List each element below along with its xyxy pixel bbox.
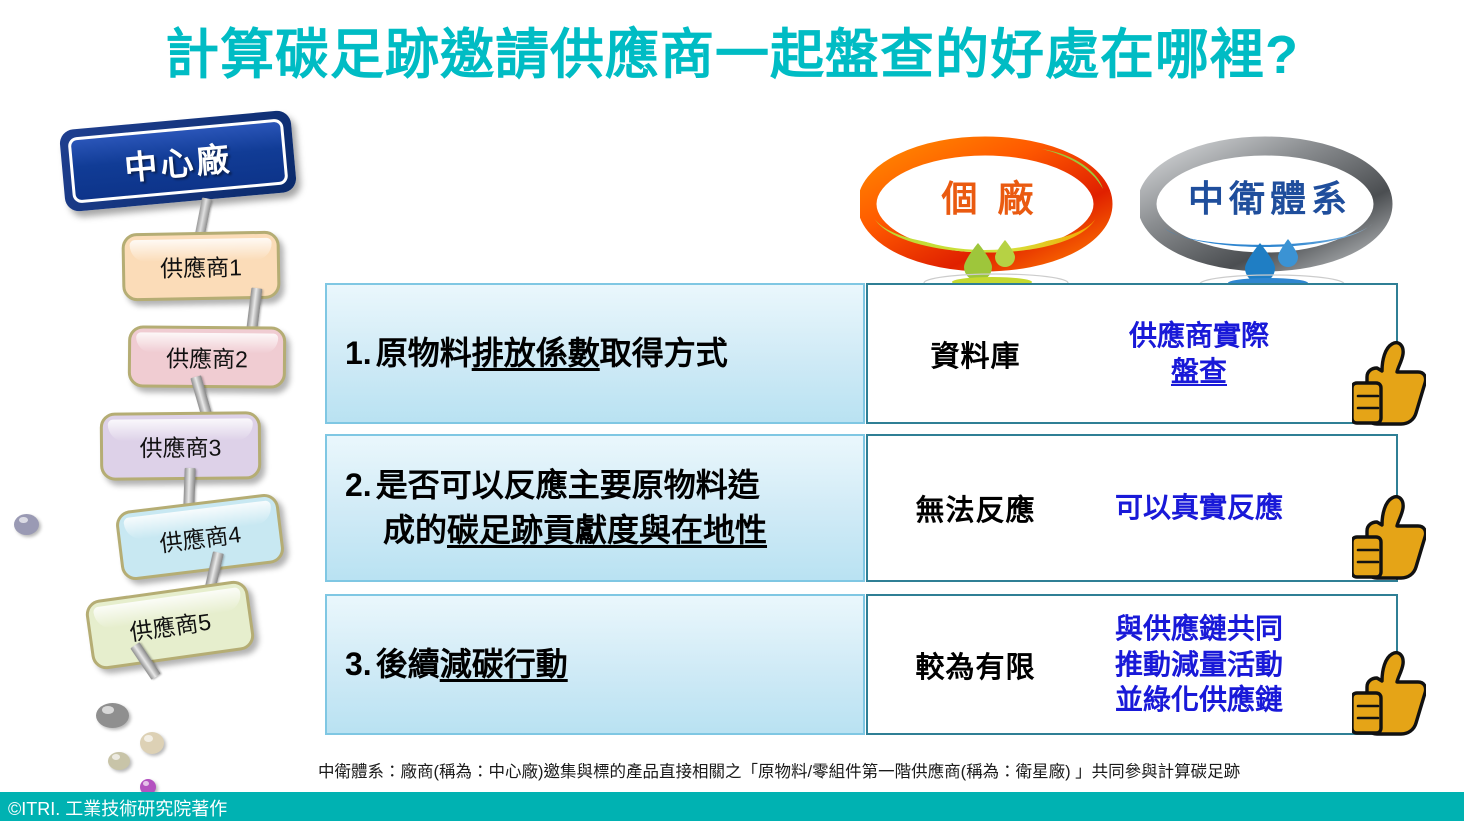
- panel-row-2: 無法反應 可以真實反應: [866, 434, 1398, 582]
- col-system-label-1: 供應商實際 盤查: [1129, 318, 1269, 390]
- oval-individual-plant: 個 廠: [860, 132, 1120, 297]
- col-system-label-2: 可以真實反應: [1115, 490, 1283, 526]
- col-individual-1: 資料庫: [868, 285, 1083, 422]
- item-box-3: 3.後續減碳行動: [325, 594, 865, 735]
- panel-row-3: 較為有限 與供應鏈共同 推動減量活動 並綠化供應鏈: [866, 594, 1398, 735]
- footnote: 中衛體系：廠商(稱為：中心廠)邀集與標的產品直接相關之「原物料/零組件第一階供應…: [318, 758, 1458, 782]
- supplier-label-3: 供應商3: [139, 429, 221, 464]
- item-plain-2: 是否可以反應主要原物料造: [376, 467, 760, 503]
- decorative-dot-2: [96, 703, 129, 728]
- hq-sign-label: 中心廠: [122, 132, 234, 190]
- col-system-3: 與供應鏈共同 推動減量活動 並綠化供應鏈: [1083, 596, 1315, 733]
- page-title: 計算碳足跡邀請供應商一起盤查的好處在哪裡?: [0, 10, 1464, 89]
- col-individual-2: 無法反應: [868, 436, 1083, 580]
- col-system-line-3-2: 推動減量活動: [1115, 649, 1283, 680]
- item-box-1: 1.原物料排放係數取得方式: [325, 283, 865, 424]
- col-system-line-3-1: 與供應鏈共同: [1115, 613, 1283, 644]
- thumbs-up-icon-1: [1352, 338, 1426, 430]
- item-index-1: 1.: [345, 335, 372, 371]
- col-system-2: 可以真實反應: [1083, 436, 1315, 580]
- supplier-label-5: 供應商5: [127, 602, 213, 647]
- col-system-line-2-1: 可以真實反應: [1115, 492, 1283, 523]
- item-text-3: 3.後續減碳行動: [345, 642, 568, 687]
- oval-center-satellite-system-graphic: [1140, 132, 1400, 297]
- panel-row-1: 資料庫 供應商實際 盤查: [866, 283, 1398, 424]
- supplier-label-2: 供應商2: [166, 340, 248, 375]
- oval-center-satellite-system: 中衛體系: [1140, 132, 1400, 297]
- oval-individual-plant-graphic: [860, 132, 1120, 297]
- item-line2-plain-2: 成的: [383, 512, 447, 548]
- item-line2-2: 成的碳足跡貢獻度與在地性: [345, 508, 767, 553]
- supplier-label-4: 供應商4: [157, 515, 242, 559]
- item-index-2: 2.: [345, 467, 372, 503]
- col-system-line-1-2: 盤查: [1171, 356, 1227, 387]
- thumbs-up-icon-2: [1352, 492, 1426, 584]
- supplier-node-4: 供應商4: [114, 492, 285, 581]
- item-box-2: 2.是否可以反應主要原物料造 成的碳足跡貢獻度與在地性: [325, 434, 865, 582]
- col-individual-label-2: 無法反應: [915, 487, 1035, 529]
- item-text-2: 2.是否可以反應主要原物料造 成的碳足跡貢獻度與在地性: [345, 463, 767, 554]
- decorative-dot-3: [140, 732, 164, 754]
- supplier-label-1: 供應商1: [160, 248, 242, 283]
- supplier-node-2: 供應商2: [128, 325, 287, 388]
- decorative-dot-4: [108, 752, 130, 770]
- copyright-credit: ©ITRI. 工業技術研究院著作: [8, 795, 227, 821]
- col-system-line-1-1: 供應商實際: [1129, 320, 1269, 351]
- col-system-1: 供應商實際 盤查: [1083, 285, 1315, 422]
- col-individual-3: 較為有限: [868, 596, 1083, 733]
- item-plain-1: 原物料: [376, 335, 472, 371]
- slide-canvas: 計算碳足跡邀請供應商一起盤查的好處在哪裡? 中心廠 供應商1 供應商2 供應商3…: [0, 0, 1464, 821]
- col-individual-label-1: 資料庫: [930, 333, 1020, 375]
- hq-sign: 中心廠: [59, 110, 297, 213]
- supplier-node-5: 供應商5: [84, 579, 256, 671]
- item-tail-1: 取得方式: [600, 335, 728, 371]
- col-system-label-3: 與供應鏈共同 推動減量活動 並綠化供應鏈: [1115, 611, 1283, 718]
- item-underlined-1: 排放係數: [472, 335, 600, 371]
- supply-chain-diagram: 中心廠 供應商1 供應商2 供應商3 供應商4 供應商5: [0, 110, 330, 790]
- thumbs-up-icon-3: [1352, 648, 1426, 740]
- item-index-3: 3.: [345, 646, 372, 682]
- item-underlined-3: 減碳行動: [440, 646, 568, 682]
- col-system-line-3-3: 並綠化供應鏈: [1115, 684, 1283, 715]
- bottom-bar: ©ITRI. 工業技術研究院著作: [0, 792, 1464, 821]
- item-text-1: 1.原物料排放係數取得方式: [345, 331, 728, 376]
- col-individual-label-3: 較為有限: [915, 644, 1035, 686]
- supplier-node-3: 供應商3: [100, 411, 262, 480]
- item-line2-underlined-2: 碳足跡貢獻度與在地性: [447, 512, 767, 548]
- item-plain-3: 後續: [376, 646, 440, 682]
- decorative-dot-1: [14, 514, 39, 535]
